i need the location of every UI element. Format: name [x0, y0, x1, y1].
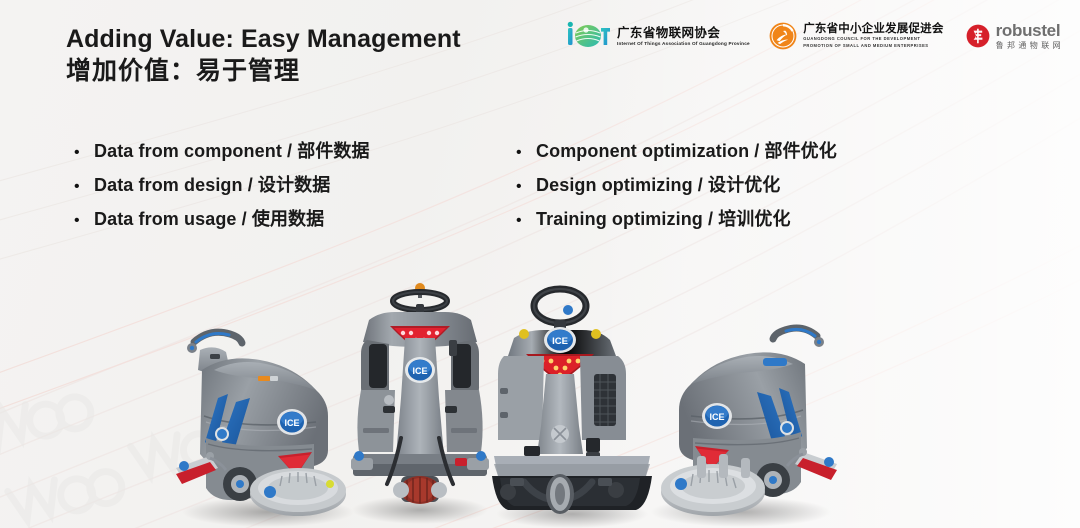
slide-title-chinese: 增加价值：易于管理 — [66, 54, 461, 88]
iot-association-name-zh: 广东省物联网协会 — [617, 26, 747, 40]
orange-seal-icon — [769, 22, 797, 50]
robustel-name-zh: 鲁邦通物联网 — [996, 40, 1064, 51]
list-item: • Component optimization / 部件优化 — [508, 138, 948, 172]
bullet-column-right: • Component optimization / 部件优化 • Design… — [508, 138, 948, 240]
list-item: • Data from usage / 使用数据 — [66, 206, 496, 240]
bullet-marker-icon: • — [66, 208, 94, 234]
guangdong-sme-council-logo: 广东省中小企业发展促进会 GUANGDONG COUNCIL FOR THE D… — [769, 22, 943, 50]
bullet-lists: • Data from component / 部件数据 • Data from… — [0, 138, 1080, 240]
bullet-marker-icon: • — [66, 140, 94, 166]
iot-association-logo: 广东省物联网协会 Internet Of Things Association … — [567, 21, 747, 51]
bullet-text: Data from component / 部件数据 — [94, 138, 370, 164]
partner-logo-bar: 广东省物联网协会 Internet Of Things Association … — [567, 21, 1064, 51]
slide-title-english: Adding Value: Easy Management — [66, 24, 461, 54]
slide-title-block: Adding Value: Easy Management 增加价值：易于管理 — [66, 24, 461, 88]
slide-canvas: Adding Value: Easy Management 增加价值：易于管理 — [0, 0, 1080, 528]
svg-text:ICE: ICE — [412, 366, 427, 376]
list-item: • Data from design / 设计数据 — [66, 172, 496, 206]
guangdong-sme-name-zh: 广东省中小企业发展促进会 — [803, 23, 943, 36]
svg-text:ICE: ICE — [552, 336, 568, 347]
guangdong-sme-name-en-line2: PROMOTION OF SMALL AND MEDIUM ENTERPRISE… — [803, 43, 943, 49]
bullet-marker-icon: • — [508, 140, 536, 166]
bullet-text: Component optimization / 部件优化 — [536, 138, 837, 164]
list-item: • Design optimizing / 设计优化 — [508, 172, 948, 206]
robustel-wordmark: robustel — [996, 22, 1064, 40]
machine-walk-behind-scrubber-right-facing: ICE — [170, 298, 360, 528]
machine-ride-on-scrubber-front-view: ICE — [345, 278, 495, 528]
machine-walk-behind-scrubber-left-facing: ICE — [645, 298, 845, 528]
machine-photo-row: ICE — [0, 268, 1080, 528]
bullet-column-left: • Data from component / 部件数据 • Data from… — [66, 138, 496, 240]
iot-association-name-en: Internet Of Things Association Of Guangd… — [617, 40, 750, 47]
svg-text:ICE: ICE — [709, 412, 724, 422]
svg-text:ICE: ICE — [284, 418, 299, 428]
bullet-text: Training optimizing / 培训优化 — [536, 206, 791, 232]
globe-network-icon — [567, 21, 611, 51]
bullet-marker-icon: • — [508, 208, 536, 234]
machine-ride-on-sweeper-rear-view: ICE — [490, 278, 655, 528]
list-item: • Data from component / 部件数据 — [66, 138, 496, 172]
list-item: • Training optimizing / 培训优化 — [508, 206, 948, 240]
robustel-badge-icon — [966, 24, 990, 48]
bullet-text: Design optimizing / 设计优化 — [536, 172, 780, 198]
bullet-marker-icon: • — [508, 174, 536, 200]
bullet-text: Data from design / 设计数据 — [94, 172, 330, 198]
bullet-marker-icon: • — [66, 174, 94, 200]
bullet-text: Data from usage / 使用数据 — [94, 206, 324, 232]
robustel-logo: robustel 鲁邦通物联网 — [966, 22, 1064, 51]
